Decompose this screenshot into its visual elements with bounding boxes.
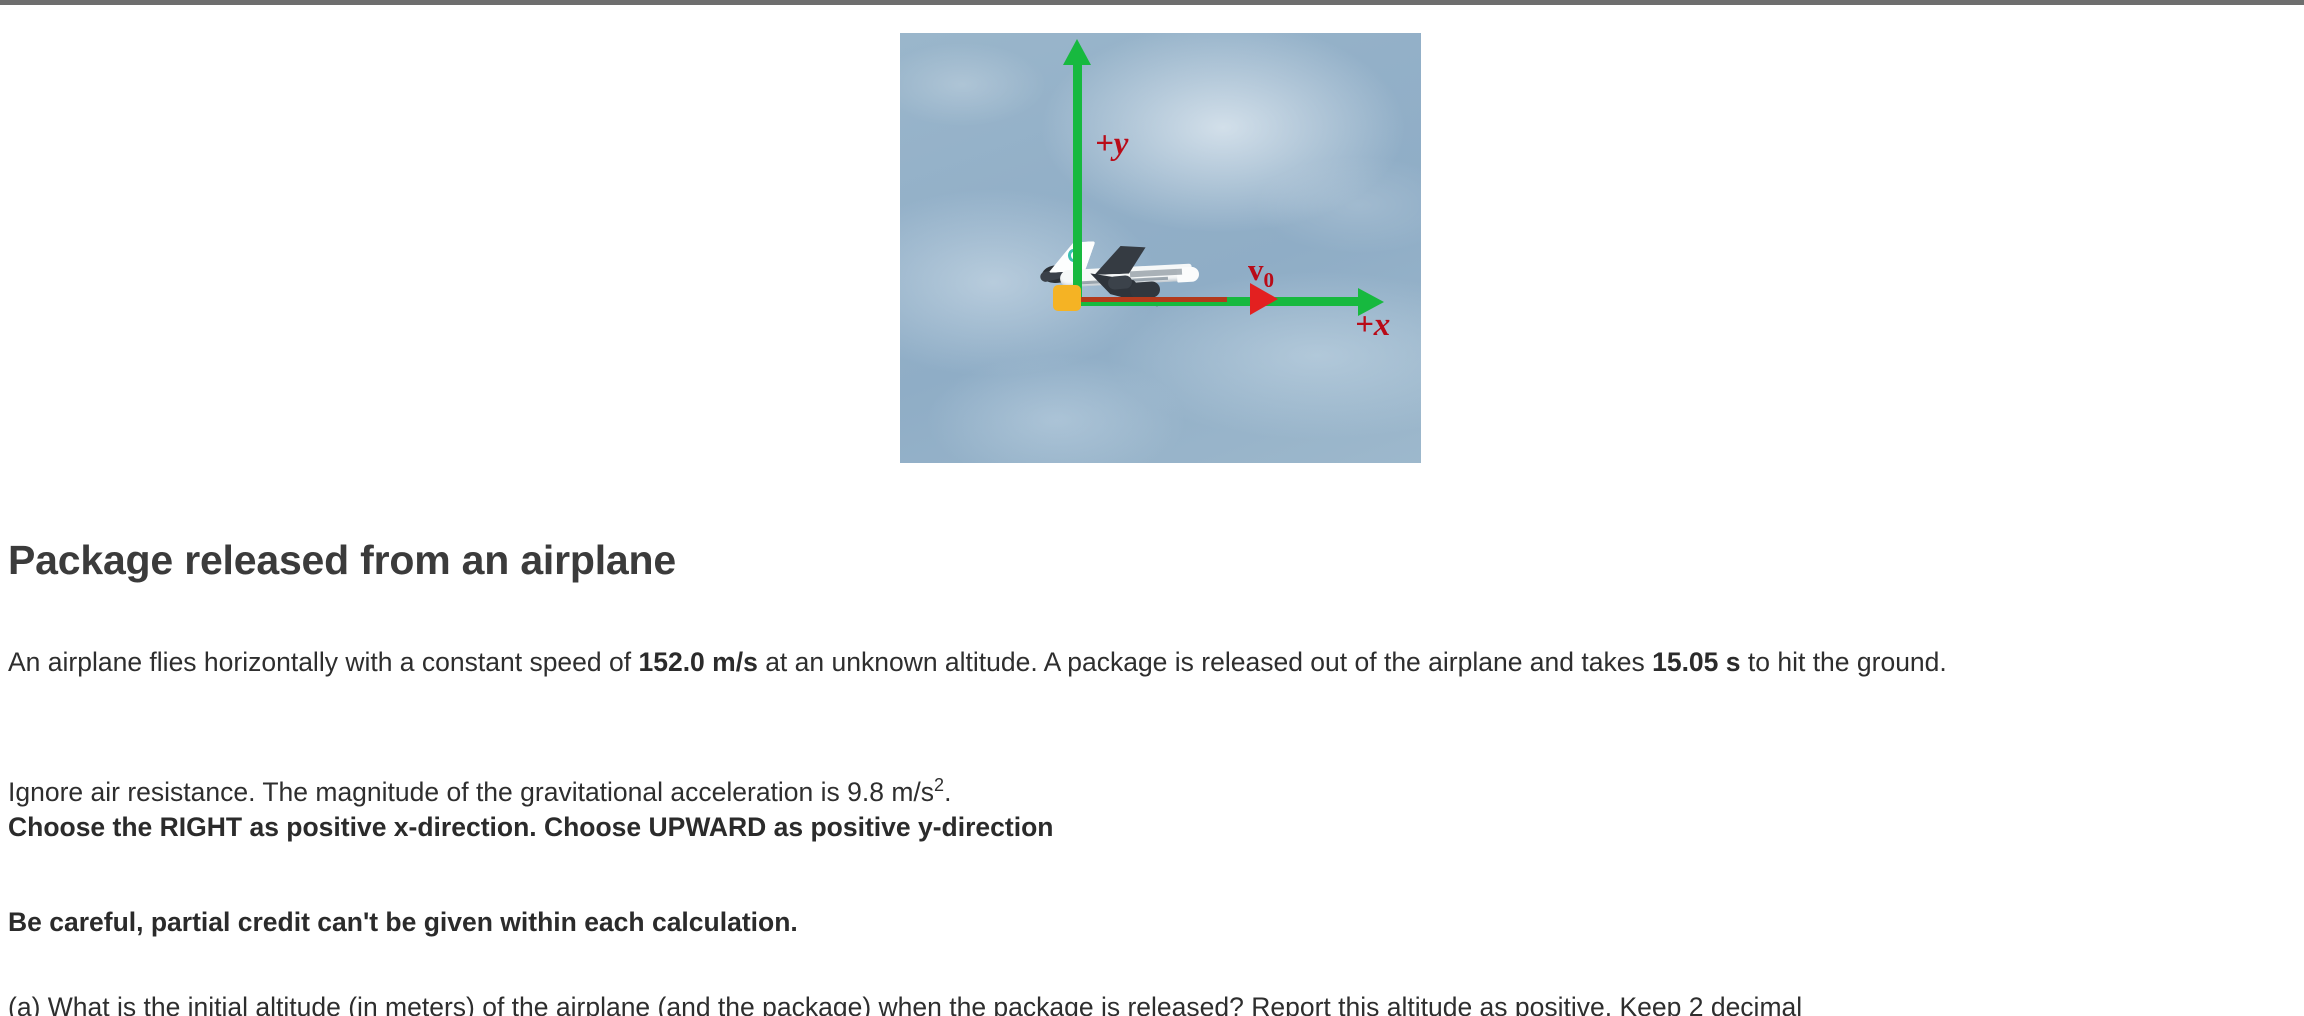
y-axis-line bbox=[1073, 59, 1082, 301]
sign-convention-text: Choose the RIGHT as positive x-direction… bbox=[8, 810, 2304, 845]
gravity-text: Ignore air resistance. The magnitude of … bbox=[8, 777, 934, 807]
top-divider-rule bbox=[0, 0, 2304, 5]
speed-value: 152.0 m/s bbox=[638, 647, 757, 677]
statement-part-1: An airplane flies horizontally with a co… bbox=[8, 647, 638, 677]
assumptions-paragraph: Ignore air resistance. The magnitude of … bbox=[8, 775, 2304, 845]
gravity-period: . bbox=[944, 777, 951, 807]
partial-credit-note: Be careful, partial credit can't be give… bbox=[8, 905, 2304, 940]
page-root: +y +x v0 Package released from an airpla… bbox=[0, 0, 2304, 1016]
statement-part-2: at an unknown altitude. A package is rel… bbox=[758, 647, 1652, 677]
velocity-symbol: v bbox=[1248, 252, 1264, 287]
airplane-package-figure: +y +x v0 bbox=[900, 33, 1421, 463]
statement-part-3: to hit the ground. bbox=[1741, 647, 1947, 677]
y-axis-arrowhead-icon bbox=[1063, 39, 1091, 65]
time-value: 15.05 s bbox=[1652, 647, 1740, 677]
partial-credit-text: Be careful, partial credit can't be give… bbox=[8, 907, 798, 937]
initial-velocity-vector-line bbox=[1077, 297, 1227, 302]
velocity-subscript: 0 bbox=[1264, 268, 1275, 292]
question-a: (a) What is the initial altitude (in met… bbox=[8, 990, 2304, 1016]
initial-velocity-label: v0 bbox=[1248, 252, 1274, 293]
problem-statement-paragraph: An airplane flies horizontally with a co… bbox=[8, 645, 2304, 680]
x-axis-label: +x bbox=[1355, 307, 1390, 344]
gravity-exponent: 2 bbox=[934, 775, 944, 795]
y-axis-label: +y bbox=[1095, 126, 1128, 163]
package-box bbox=[1053, 285, 1081, 311]
page-title: Package released from an airplane bbox=[8, 537, 676, 584]
